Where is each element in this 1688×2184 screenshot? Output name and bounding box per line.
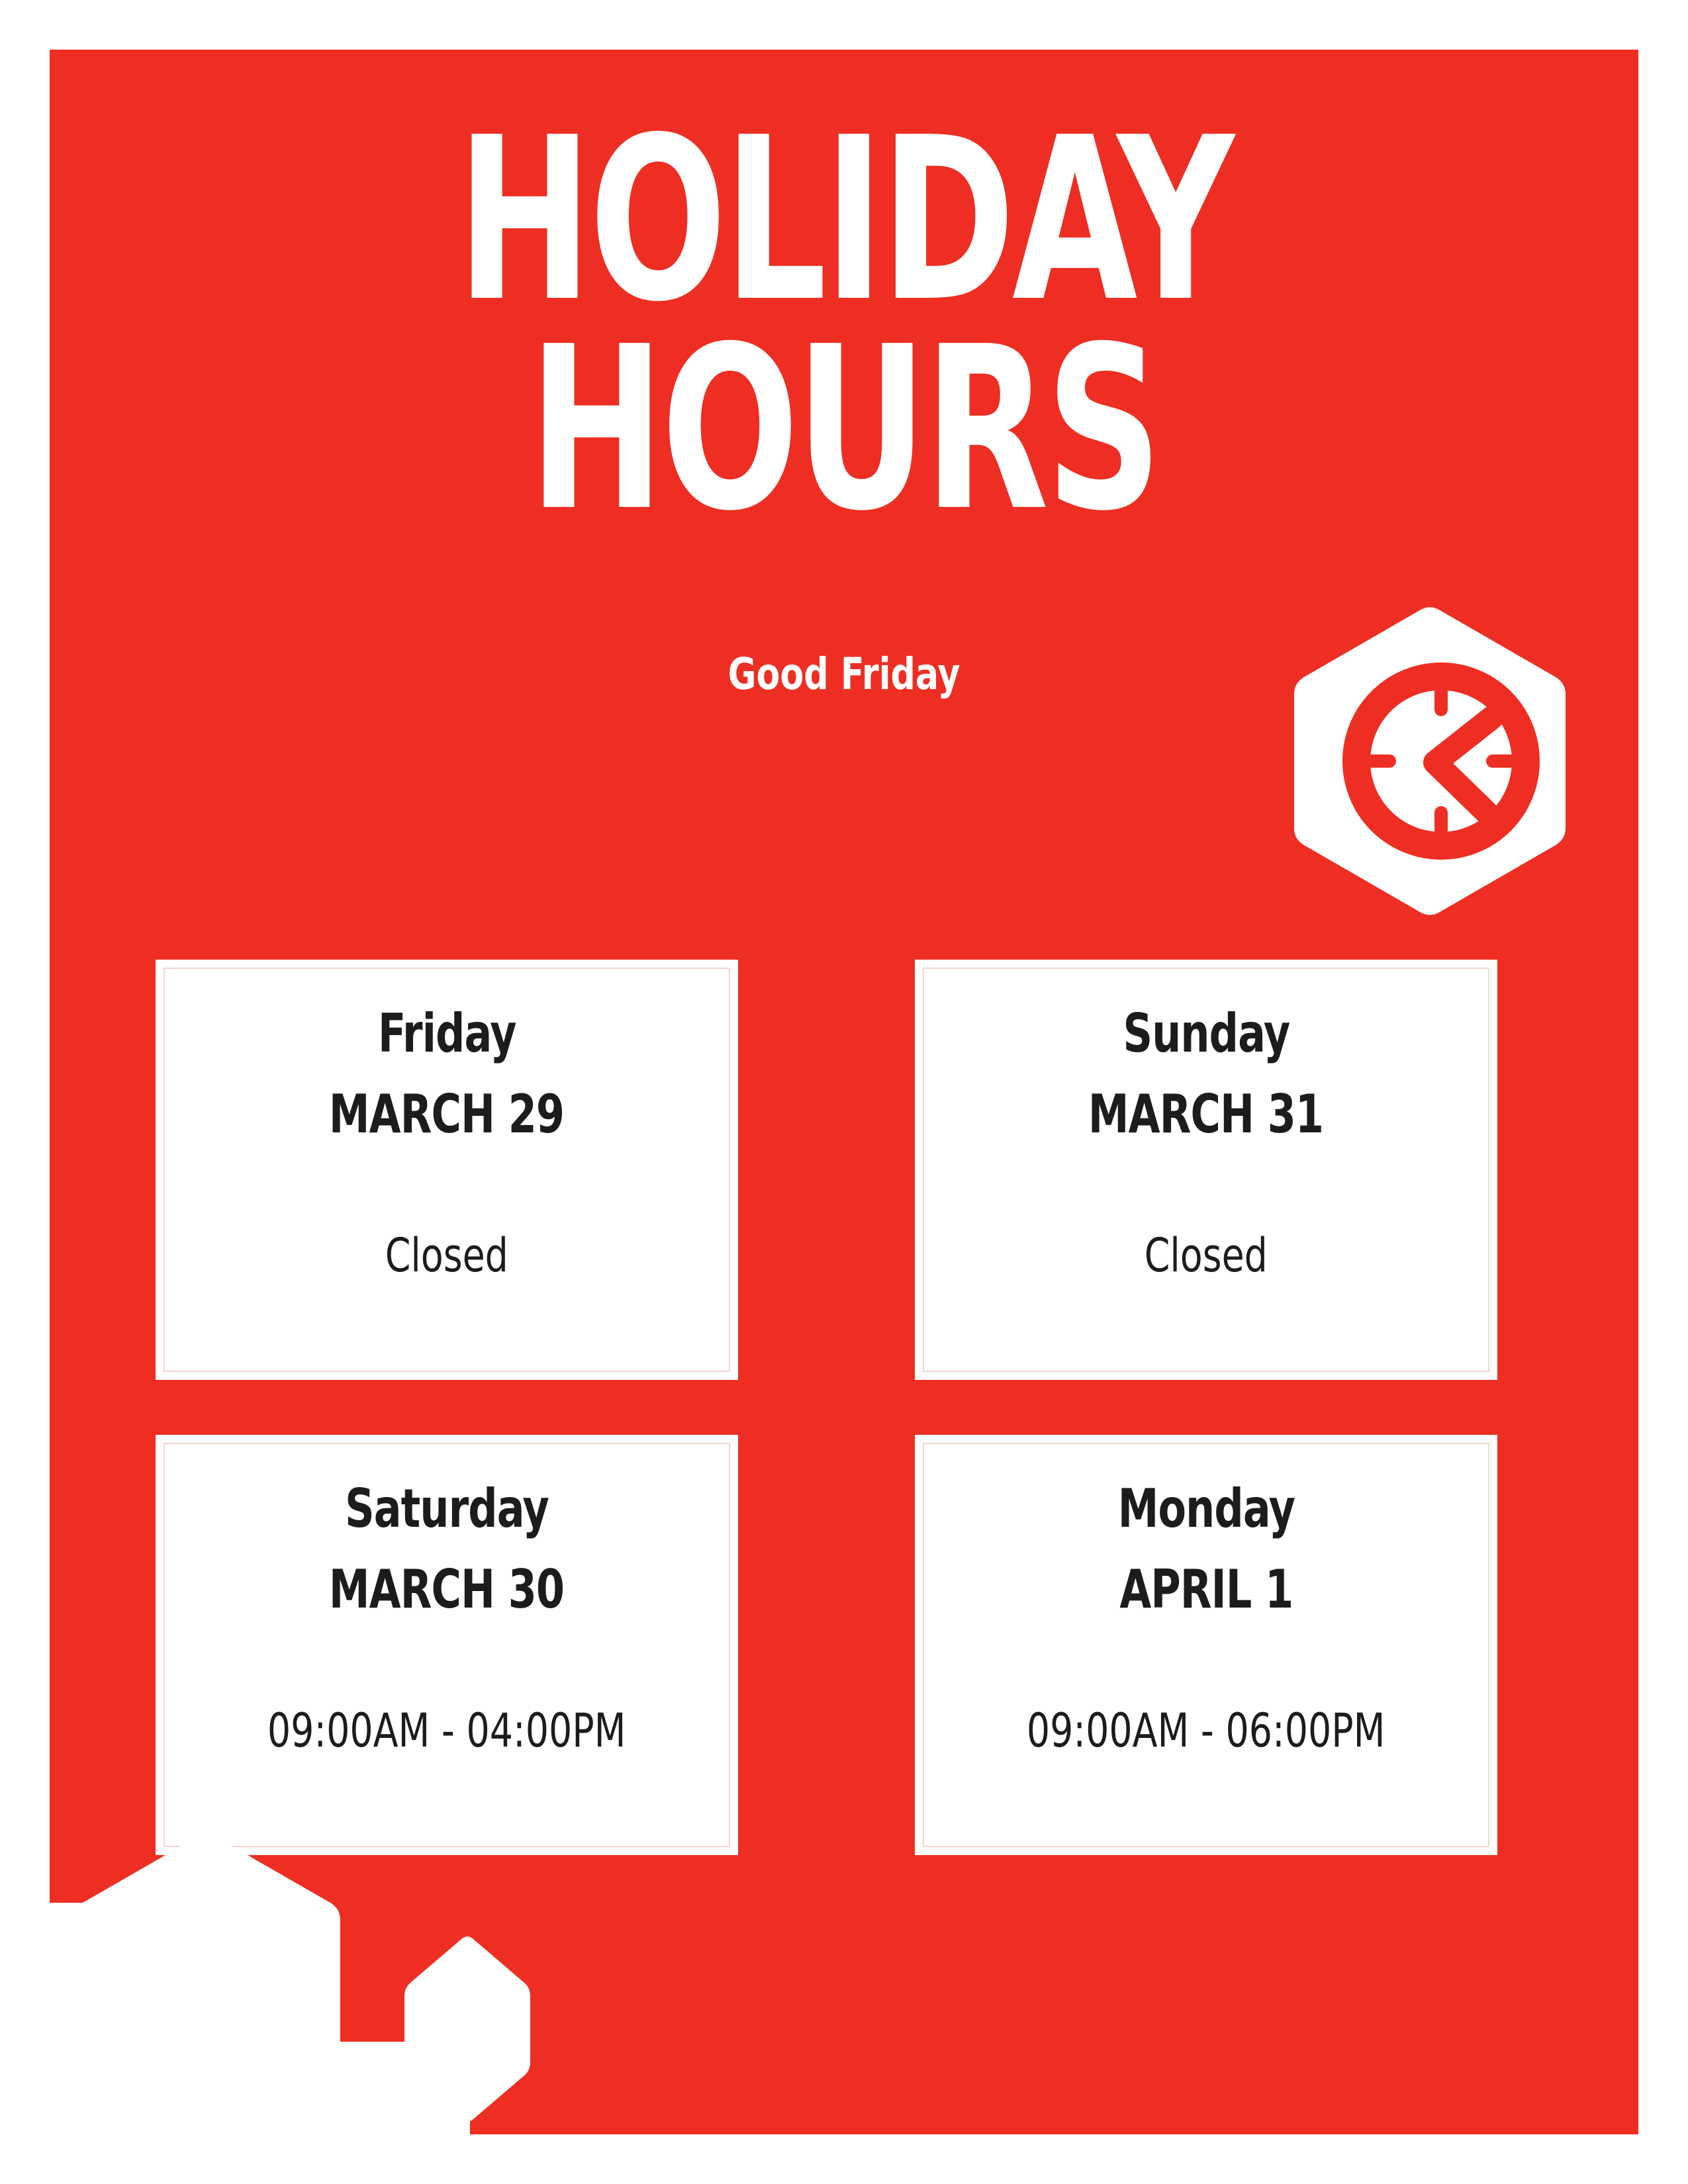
bottom-left-band [50,2042,470,2134]
card-weekday: Friday [378,1007,516,1060]
hours-card-friday: Friday MARCH 29 Closed [156,960,738,1380]
poster-canvas: HOLIDAY HOURS Good Friday Friday MARCH 2… [50,50,1638,2134]
card-weekday: Saturday [345,1482,549,1535]
card-date: MARCH 29 [329,1088,564,1141]
card-date: APRIL 1 [1119,1563,1293,1616]
page-title: HOLIDAY HOURS [209,116,1479,534]
clock-icon [1294,556,1585,917]
hexagon-shape-small [404,1936,530,2122]
card-weekday: Sunday [1123,1007,1289,1060]
hours-card-saturday: Saturday MARCH 30 09:00AM - 04:00PM [156,1435,738,1855]
card-hours: 09:00AM - 06:00PM [1027,1707,1385,1754]
hexagon-shape-large [50,1835,340,2135]
hours-card-monday: Monday APRIL 1 09:00AM - 06:00PM [915,1435,1497,1855]
card-weekday: Monday [1117,1482,1294,1535]
card-date: MARCH 31 [1088,1088,1323,1141]
card-hours: Closed [385,1232,508,1279]
card-hours: Closed [1145,1232,1268,1279]
card-hours: 09:00AM - 04:00PM [267,1707,626,1754]
card-date: MARCH 30 [329,1563,564,1616]
hours-grid: Friday MARCH 29 Closed Sunday MARCH 31 C… [156,960,1559,1855]
clock-badge [1294,556,1585,917]
bottom-left-notch [50,1999,222,2134]
hours-card-sunday: Sunday MARCH 31 Closed [915,960,1497,1380]
